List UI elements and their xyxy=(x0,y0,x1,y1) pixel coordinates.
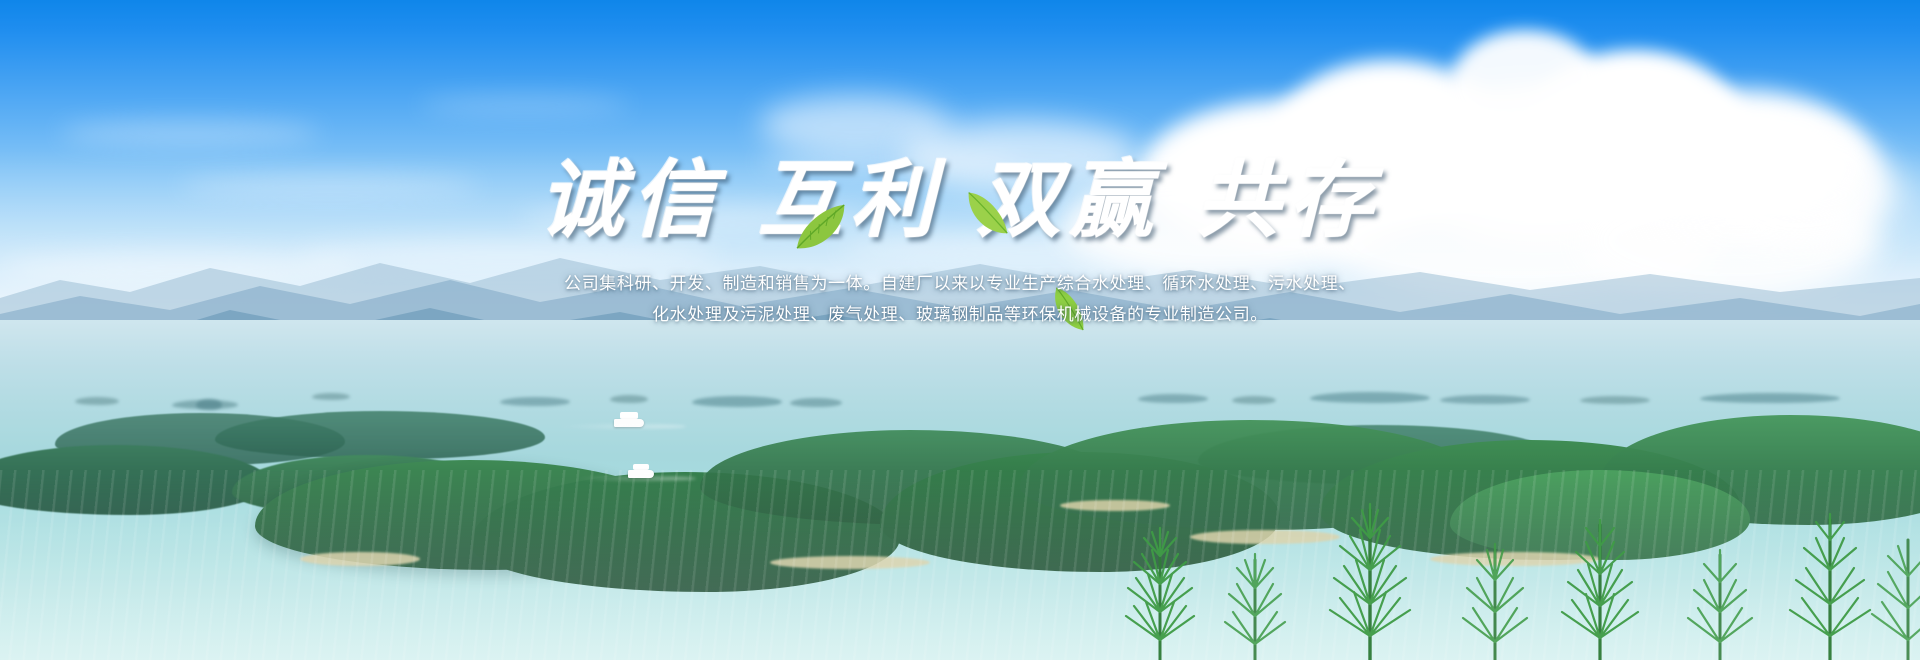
headline-word-1: 诚信 xyxy=(539,150,724,249)
subtitle-block: 公司集科研、开发、制造和销售为一体。自建厂以来以专业生产综合水处理、循环水处理、… xyxy=(0,268,1920,330)
hero-banner: 诚信互利双赢共存 公司集科研、开发、制造和销售为一体。自建厂以来以专业生产综合水… xyxy=(0,0,1920,660)
headline-word-4: 共存 xyxy=(1196,150,1381,249)
subtitle-line-1: 公司集科研、开发、制造和销售为一体。自建厂以来以专业生产综合水处理、循环水处理、… xyxy=(0,268,1920,299)
boat-wake-lower xyxy=(576,476,696,481)
subtitle-line-2: 化水处理及污泥处理、废气处理、玻璃钢制品等环保机械设备的专业制造公司。 xyxy=(0,299,1920,330)
pine-branch-foreground xyxy=(1040,430,1920,660)
boat-wake-upper xyxy=(556,424,686,429)
